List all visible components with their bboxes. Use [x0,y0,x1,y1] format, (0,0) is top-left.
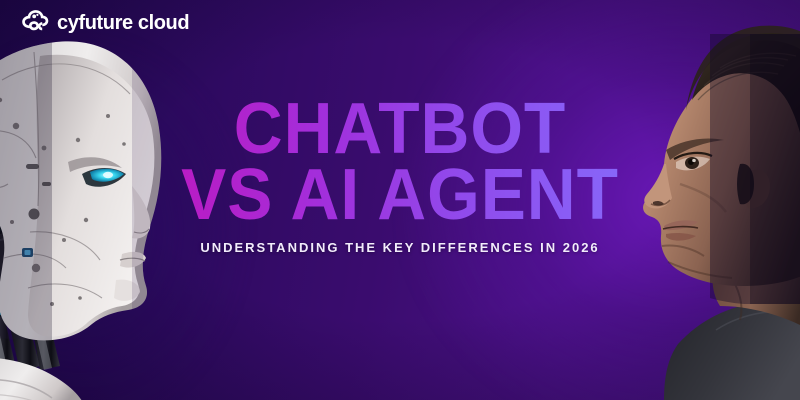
cyfuture-cloud-logo-icon [20,8,50,37]
robot-figure [0,36,197,400]
human-figure [620,14,800,400]
human-shading [710,14,800,314]
banner-root: cyfuture cloud CHATBOT VS AI AGENT UNDER… [0,0,800,400]
brand-logo-text: cyfuture cloud [57,13,189,33]
brand-logo[interactable]: cyfuture cloud [20,8,189,37]
